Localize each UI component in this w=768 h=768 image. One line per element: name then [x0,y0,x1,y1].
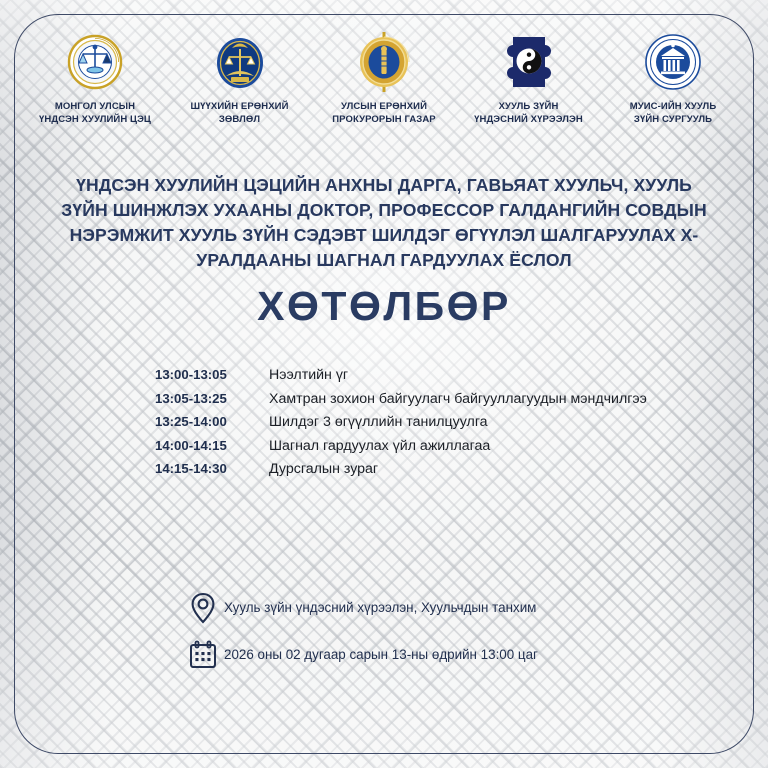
poster-content: МОНГОЛ УЛСЫН ҮНДСЭН ХУУЛИЙН ЦЭЦ ШҮҮХИЙН … [0,0,768,768]
schedule-time: 14:15-14:30 [155,459,269,479]
logo-item-judicial-council: ШҮҮХИЙН ЕРӨНХИЙ ЗӨВЛӨЛ [169,28,311,126]
national-legal-institute-yinyang-icon [499,28,559,96]
logo-label: МУИС-ИЙН ХУУЛЬ ЗҮЙН СУРГУУЛЬ [630,101,717,126]
schedule-description: Шагнал гардуулах үйл ажиллагаа [269,436,678,458]
num-law-school-seal-icon [644,28,702,96]
schedule-time: 13:25-14:00 [155,412,269,432]
schedule-row: 13:25-14:00 Шилдэг 3 өгүүллийн танилцуул… [155,412,678,434]
date-text: 2026 оны 02 дугаар сарын 13-ны өдрийн 13… [224,646,538,665]
judicial-general-council-emblem-icon [212,28,268,96]
logo-label: МОНГОЛ УЛСЫН ҮНДСЭН ХУУЛИЙН ЦЭЦ [39,101,151,126]
schedule-description: Дурсгалын зураг [269,459,678,481]
schedule-row: 13:05-13:25 Хамтран зохион байгуулагч ба… [155,389,678,411]
meta-date-row: 2026 оны 02 дугаар сарын 13-ны өдрийн 13… [182,640,538,670]
prosecutor-general-office-medal-icon [357,28,411,96]
schedule-time: 14:00-14:15 [155,436,269,456]
program-title: ХӨТӨЛБӨР [0,283,768,330]
meta-location-row: Хууль зүйн үндэсний хүрээлэн, Хуульчдын … [182,592,538,624]
schedule-row: 14:00-14:15 Шагнал гардуулах үйл ажиллаг… [155,436,678,458]
logo-item-national-legal-institute: ХУУЛЬ ЗҮЙН ҮНДЭСНИЙ ХҮРЭЭЛЭН [458,28,600,126]
event-headline: ҮНДСЭН ХУУЛИЙН ЦЭЦИЙН АНХНЫ ДАРГА, ГАВЬЯ… [56,173,712,273]
map-pin-icon [182,592,224,624]
schedule-list: 13:00-13:05 Нээлтийн үг 13:05-13:25 Хамт… [155,365,678,483]
logo-strip: МОНГОЛ УЛСЫН ҮНДСЭН ХУУЛИЙН ЦЭЦ ШҮҮХИЙН … [24,28,744,126]
location-text: Хууль зүйн үндэсний хүрээлэн, Хуульчдын … [224,599,536,618]
logo-label: ШҮҮХИЙН ЕРӨНХИЙ ЗӨВЛӨЛ [190,101,288,126]
mongolia-constitutional-court-seal-icon [67,28,123,96]
calendar-icon [182,640,224,670]
schedule-row: 14:15-14:30 Дурсгалын зураг [155,459,678,481]
logo-label: УЛСЫН ЕРӨНХИЙ ПРОКУРОРЫН ГАЗАР [332,101,436,126]
event-meta: Хууль зүйн үндэсний хүрээлэн, Хуульчдын … [182,592,538,686]
logo-label: ХУУЛЬ ЗҮЙН ҮНДЭСНИЙ ХҮРЭЭЛЭН [474,101,583,126]
schedule-description: Нээлтийн үг [269,365,678,387]
schedule-description: Хамтран зохион байгуулагч байгууллагууды… [269,389,678,411]
logo-item-prosecutor-general: УЛСЫН ЕРӨНХИЙ ПРОКУРОРЫН ГАЗАР [313,28,455,126]
logo-item-num-law-school: МУИС-ИЙН ХУУЛЬ ЗҮЙН СУРГУУЛЬ [602,28,744,126]
logo-item-constitutional-court: МОНГОЛ УЛСЫН ҮНДСЭН ХУУЛИЙН ЦЭЦ [24,28,166,126]
schedule-time: 13:00-13:05 [155,365,269,385]
schedule-row: 13:00-13:05 Нээлтийн үг [155,365,678,387]
schedule-description: Шилдэг 3 өгүүллийн танилцуулга [269,412,678,434]
schedule-time: 13:05-13:25 [155,389,269,409]
